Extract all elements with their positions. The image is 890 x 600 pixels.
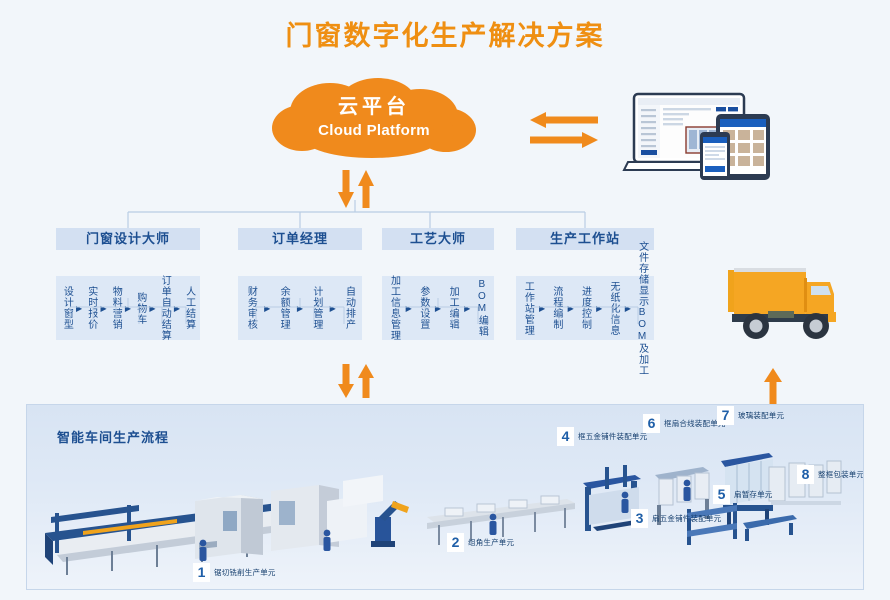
workshop-unit-3[interactable]: 3 扇五金铺件装配单元 [631, 509, 721, 528]
module-items-1: 财务审核 ▶ 余额管理 ▶ 计划管理 ▶ 自动排产 [238, 276, 362, 340]
workshop-unit-4[interactable]: 4 框五金铺件装配单元 [557, 427, 647, 446]
workshop-unit-number: 3 [631, 509, 648, 528]
workshop-panel: 智能车间生产流程 [26, 404, 864, 590]
workshop-unit-1[interactable]: 1 锯切铣削生产单元 [193, 563, 276, 582]
module-subtree-0 [56, 298, 200, 324]
workshop-unit-2[interactable]: 2 组角生产单元 [447, 533, 514, 552]
module-card-3[interactable]: 生产工作站 工作站管理 ▶ 流程编制 ▶ 进度控制 ▶ 无纸化信息 ▶ [516, 228, 654, 340]
workshop-unit-label: 框五金铺件装配单元 [578, 431, 647, 442]
module-title-2: 工艺大师 [382, 228, 494, 250]
workshop-unit-number: 4 [557, 427, 574, 446]
workshop-unit-7[interactable]: 7 玻璃装配单元 [717, 406, 784, 425]
module-title-1: 订单经理 [238, 228, 362, 250]
right-arrow-icon [530, 132, 598, 153]
workshop-unit-label: 扇暂存单元 [734, 489, 773, 500]
workshop-unit-number: 6 [643, 414, 660, 433]
workshop-unit-label: 锯切铣削生产单元 [214, 567, 276, 578]
workshop-unit-6[interactable]: 6 框扇合线装配单元 [643, 414, 726, 433]
truck-icon [712, 256, 872, 368]
workshop-unit-label: 组角生产单元 [468, 537, 514, 548]
module-subtree-3 [516, 298, 654, 324]
module-title-0: 门窗设计大师 [56, 228, 200, 250]
workshop-unit-number: 1 [193, 563, 210, 582]
cloud-platform-node: 云平台 Cloud Platform [268, 78, 480, 164]
solution-diagram-page: 门窗数字化生产解决方案 云平台 Cloud Platform [0, 0, 890, 600]
module-subtree-2 [382, 298, 494, 324]
module-card-0[interactable]: 门窗设计大师 设计窗型 ▶ 实时报价 ▶ 物料营销 ▶ 购物车 [56, 228, 200, 340]
workshop-unit-5[interactable]: 5 扇暂存单元 [713, 485, 773, 504]
cloud-label-cn: 云平台 [268, 94, 480, 120]
device-mockup-group [620, 86, 800, 182]
workshop-unit-label: 扇五金铺件装配单元 [652, 513, 721, 524]
truck-up-arrow-icon [763, 368, 783, 409]
down-up-arrow-pair-icon-2 [337, 364, 375, 403]
page-title: 门窗数字化生产解决方案 [0, 14, 890, 53]
module-items-2: 加工信息管理 ▶ 参数设置 ▶ 加工编辑 ▶ BOM编辑 [382, 276, 494, 340]
workshop-unit-number: 5 [713, 485, 730, 504]
workshop-unit-8[interactable]: 8 整框包装单元 [797, 465, 864, 484]
workshop-unit-number: 2 [447, 533, 464, 552]
module-title-3: 生产工作站 [516, 228, 654, 250]
cloud-label-en: Cloud Platform [268, 120, 480, 142]
module-items-3: 工作站管理 ▶ 流程编制 ▶ 进度控制 ▶ 无纸化信息 ▶ 文件存储显示BOM及… [516, 276, 654, 340]
workshop-unit-label: 玻璃装配单元 [738, 410, 784, 421]
cloud-label-group: 云平台 Cloud Platform [268, 94, 480, 142]
module-card-1[interactable]: 订单经理 财务审核 ▶ 余额管理 ▶ 计划管理 ▶ 自动排产 [238, 228, 362, 340]
module-card-2[interactable]: 工艺大师 加工信息管理 ▶ 参数设置 ▶ 加工编辑 ▶ BOM编辑 [382, 228, 494, 340]
left-arrow-icon [530, 112, 598, 133]
workshop-unit-label: 整框包装单元 [818, 469, 864, 480]
module-items-0: 设计窗型 ▶ 实时报价 ▶ 物料营销 ▶ 购物车 ▶ 订单自动结算 ▶ 人工结算 [56, 276, 200, 340]
workshop-unit-number: 7 [717, 406, 734, 425]
module-subtree-1 [238, 298, 362, 324]
workshop-unit-number: 8 [797, 465, 814, 484]
